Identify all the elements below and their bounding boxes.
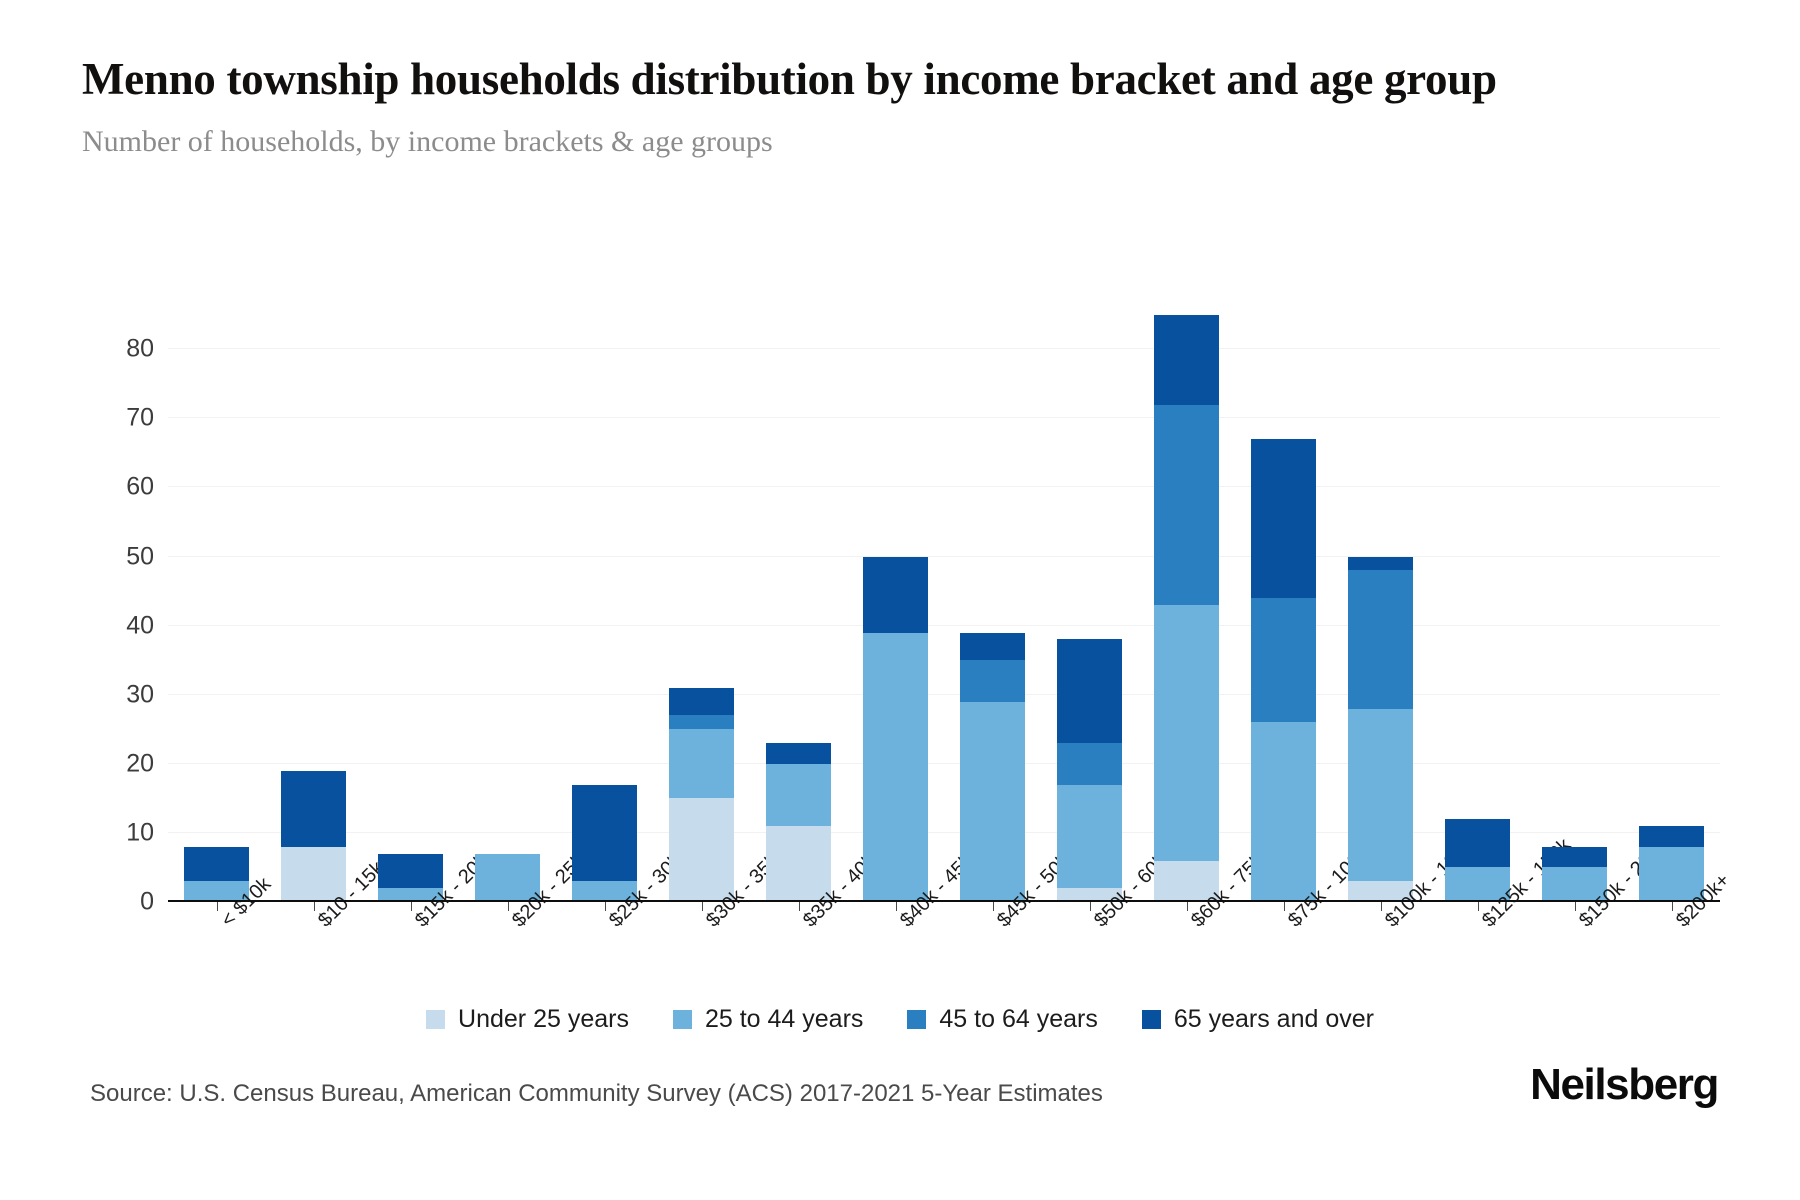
x-axis-tick — [411, 902, 412, 911]
bar-group[interactable]: $40k - 45k — [847, 294, 944, 902]
bar-segment[interactable] — [1154, 605, 1220, 861]
bar-segment[interactable] — [1154, 315, 1220, 405]
bar-stack[interactable] — [1154, 315, 1220, 902]
x-axis-tick — [799, 902, 800, 911]
bar-stack[interactable] — [1639, 826, 1705, 902]
y-axis-tick-label: 0 — [84, 888, 154, 917]
x-axis-tick — [993, 902, 994, 911]
x-axis-tick — [1090, 902, 1091, 911]
chart-legend: Under 25 years25 to 44 years45 to 64 yea… — [0, 1005, 1800, 1034]
chart-header: Menno township households distribution b… — [82, 52, 1722, 161]
chart-subtitle: Number of households, by income brackets… — [82, 122, 1722, 161]
bar-segment[interactable] — [669, 798, 735, 902]
bar-segment[interactable] — [1348, 570, 1414, 708]
bar-segment[interactable] — [281, 771, 347, 847]
legend-label: 25 to 44 years — [705, 1005, 863, 1034]
bar-group[interactable]: $125k - 150k — [1429, 294, 1526, 902]
y-axis-tick-label: 50 — [84, 542, 154, 571]
x-axis-tick — [217, 902, 218, 911]
x-axis-tick — [1478, 902, 1479, 911]
bar-segment[interactable] — [960, 633, 1026, 661]
legend-item[interactable]: 25 to 44 years — [673, 1005, 863, 1034]
legend-swatch-icon — [673, 1010, 692, 1029]
bar-group[interactable]: $75k - 100k — [1235, 294, 1332, 902]
bar-group[interactable]: $60k - 75k — [1138, 294, 1235, 902]
bar-segment[interactable] — [184, 847, 250, 882]
bar-stack[interactable] — [572, 785, 638, 902]
bar-segment[interactable] — [1251, 439, 1317, 598]
y-axis-tick-label: 30 — [84, 680, 154, 709]
legend-item[interactable]: 45 to 64 years — [907, 1005, 1097, 1034]
bar-group[interactable]: $150k - 200k — [1526, 294, 1623, 902]
legend-swatch-icon — [907, 1010, 926, 1029]
legend-item[interactable]: 65 years and over — [1142, 1005, 1374, 1034]
bar-segment[interactable] — [960, 660, 1026, 701]
bar-stack[interactable] — [1445, 819, 1511, 902]
bar-segment[interactable] — [669, 729, 735, 798]
y-axis-tick-label: 40 — [84, 611, 154, 640]
x-axis-tick — [1187, 902, 1188, 911]
bar-segment[interactable] — [1348, 557, 1414, 571]
x-axis-tick — [605, 902, 606, 911]
brand-logo: Neilsberg — [1530, 1060, 1718, 1110]
bar-segment[interactable] — [572, 785, 638, 882]
bar-segment[interactable] — [1348, 709, 1414, 882]
bar-segment[interactable] — [1057, 639, 1123, 743]
bar-segment[interactable] — [766, 764, 832, 826]
y-axis-tick-label: 10 — [84, 818, 154, 847]
bar-segment[interactable] — [378, 854, 444, 889]
bar-group[interactable]: < $10k — [168, 294, 265, 902]
bar-stack[interactable] — [863, 557, 929, 902]
bar-segment[interactable] — [1445, 819, 1511, 867]
x-axis-line — [168, 900, 1720, 902]
legend-swatch-icon — [1142, 1010, 1161, 1029]
plot-area: 01020304050607080 < $10k$10 - 15k$15k - … — [168, 294, 1720, 902]
x-axis-tick — [508, 902, 509, 911]
bar-segment[interactable] — [863, 557, 929, 633]
bar-segment[interactable] — [960, 702, 1026, 902]
legend-swatch-icon — [426, 1010, 445, 1029]
page-title: Menno township households distribution b… — [82, 52, 1682, 108]
bar-stack[interactable] — [1251, 439, 1317, 902]
y-axis-tick-label: 60 — [84, 473, 154, 502]
bar-segment[interactable] — [1251, 722, 1317, 902]
bar-stack[interactable] — [669, 688, 735, 902]
legend-label: Under 25 years — [458, 1005, 629, 1034]
x-axis-tick — [314, 902, 315, 911]
bar-segment[interactable] — [669, 715, 735, 729]
bar-segment[interactable] — [1251, 598, 1317, 722]
y-axis-tick-label: 70 — [84, 404, 154, 433]
bar-group[interactable]: $50k - 60k — [1041, 294, 1138, 902]
bar-segment[interactable] — [1057, 785, 1123, 889]
y-axis-tick-label: 80 — [84, 335, 154, 364]
chart-card: Menno township households distribution b… — [0, 0, 1800, 1200]
bar-group[interactable]: $10 - 15k — [265, 294, 362, 902]
x-axis-tick — [1672, 902, 1673, 911]
bar-group[interactable]: $45k - 50k — [944, 294, 1041, 902]
y-axis-tick-label: 20 — [84, 749, 154, 778]
bar-group[interactable]: $25k - 30k — [556, 294, 653, 902]
bar-stack[interactable] — [1348, 557, 1414, 902]
bar-segment[interactable] — [863, 633, 929, 902]
bar-group[interactable]: $35k - 40k — [750, 294, 847, 902]
bar-group[interactable]: $15k - 20k — [362, 294, 459, 902]
bar-group[interactable]: $20k - 25k — [459, 294, 556, 902]
legend-label: 45 to 64 years — [939, 1005, 1097, 1034]
bar-segment[interactable] — [766, 826, 832, 902]
legend-label: 65 years and over — [1174, 1005, 1374, 1034]
bar-stack[interactable] — [960, 633, 1026, 902]
bar-segment[interactable] — [1542, 847, 1608, 868]
source-note: Source: U.S. Census Bureau, American Com… — [90, 1080, 1103, 1108]
bar-group[interactable]: $200k+ — [1623, 294, 1720, 902]
legend-item[interactable]: Under 25 years — [426, 1005, 629, 1034]
bar-group[interactable]: $100k - 125k — [1332, 294, 1429, 902]
bar-stack[interactable] — [281, 771, 347, 902]
bar-segment[interactable] — [1154, 405, 1220, 605]
x-axis-tick — [702, 902, 703, 911]
x-axis-tick — [896, 902, 897, 911]
bar-segment[interactable] — [766, 743, 832, 764]
bar-stack[interactable] — [1057, 639, 1123, 902]
bar-stack[interactable] — [766, 743, 832, 902]
x-axis-tick — [1575, 902, 1576, 911]
x-axis-tick — [1284, 902, 1285, 911]
bar-segment[interactable] — [669, 688, 735, 716]
bars-layer: < $10k$10 - 15k$15k - 20k$20k - 25k$25k … — [168, 294, 1720, 902]
bar-segment[interactable] — [1639, 826, 1705, 847]
bar-group[interactable]: $30k - 35k — [653, 294, 750, 902]
bar-segment[interactable] — [1057, 743, 1123, 784]
x-axis-tick — [1381, 902, 1382, 911]
